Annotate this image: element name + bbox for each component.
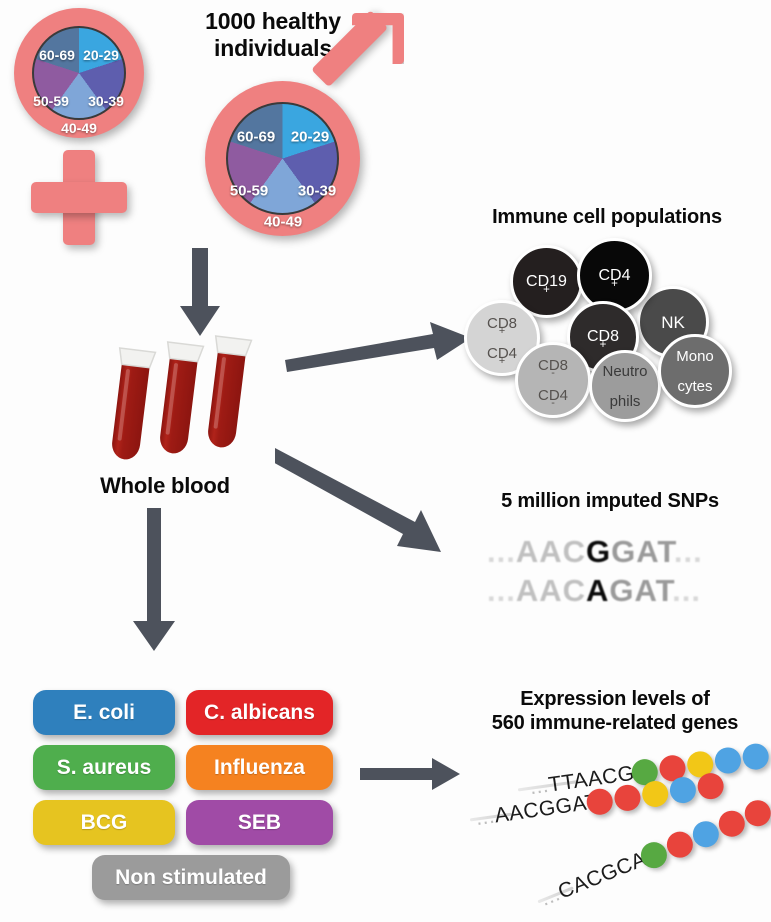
immune-cells-heading: Immune cell populations <box>452 206 762 230</box>
arrow-blood-to-immune-cells <box>285 318 475 378</box>
snp-row2-lead-dots: ... <box>487 573 516 608</box>
stimulus-seb[interactable]: SEB <box>186 800 333 845</box>
snp-row2-variant: A <box>586 573 609 608</box>
immune-cell-neutrophils: Neutro phils <box>589 350 661 422</box>
arrow-stimuli-to-expression <box>360 755 465 795</box>
stimulus-s-aureus[interactable]: S. aureus <box>33 745 175 790</box>
stimulus-c-albicans-label: C. albicans <box>204 701 315 725</box>
whole-blood-label: Whole blood <box>80 473 250 499</box>
stimulus-bcg[interactable]: BCG <box>33 800 175 845</box>
rna-bead-2-2 <box>613 783 642 812</box>
immune-cell-monocytes: Mono cytes <box>658 334 732 408</box>
female-symbol-stem-cross <box>31 182 127 213</box>
immune-cell-nk-label: NK <box>661 314 685 331</box>
age-pie-female <box>32 26 126 120</box>
immune-cell-cd4: CD4+ <box>577 238 652 313</box>
snp-row1-lead-dots: ... <box>487 534 516 569</box>
snp-row1-prefix: AAC <box>516 534 586 569</box>
immune-cell-cd8n-cd4n-label: CD8- CD4- <box>538 358 568 403</box>
stimulus-non-stimulated[interactable]: Non stimulated <box>92 855 290 900</box>
snp-sequence-row-2: ...AACAGAT... <box>487 573 701 609</box>
expression-heading-line1: Expression levels of <box>460 688 770 712</box>
rna-bead-3-5 <box>741 796 771 830</box>
arrow-cohort-to-blood <box>170 248 230 338</box>
immune-cell-neutrophils-label: Neutro phils <box>602 364 647 409</box>
stimulus-bcg-label: BCG <box>81 811 128 835</box>
age-pie-male <box>226 102 339 215</box>
immune-cell-cd8p-cd4p-label: CD8+ CD4+ <box>487 316 517 361</box>
rna-bead-2-5 <box>696 771 725 800</box>
snp-row1-variant: G <box>586 534 611 569</box>
rna-bead-2-3 <box>640 779 669 808</box>
snp-row2-suffix: GAT <box>609 573 672 608</box>
immune-cell-cd4-label: CD4+ <box>598 268 630 284</box>
snp-row2-trail-dots: ... <box>672 573 701 608</box>
snp-row1-suffix: GAT <box>611 534 674 569</box>
snp-sequence-row-1: ...AACGGAT... <box>487 534 703 570</box>
cohort-heading-line1: 1000 healthy <box>178 8 368 35</box>
rna-strand-2-sequence: ...AACGGAT <box>474 790 600 831</box>
stimulus-non-stimulated-label: Non stimulated <box>115 866 267 890</box>
stimulus-e-coli[interactable]: E. coli <box>33 690 175 735</box>
immune-cell-cluster: NK CD19+ CD4+ CD8+ CD8+ CD4+ CD8- CD4- N… <box>452 238 771 423</box>
rna-bead-2-4 <box>668 775 697 804</box>
immune-cell-cd8n-cd4n: CD8- CD4- <box>515 342 591 418</box>
snp-row1-trail-dots: ... <box>674 534 703 569</box>
immune-cell-cd8-label: CD8+ <box>587 329 619 345</box>
stimulus-influenza[interactable]: Influenza <box>186 745 333 790</box>
arrow-blood-to-snps <box>275 448 455 558</box>
snps-heading: 5 million imputed SNPs <box>460 490 760 514</box>
expression-heading-line2: 560 immune-related genes <box>460 712 770 736</box>
rna-bead-1-5 <box>741 742 770 771</box>
snp-row2-prefix: AAC <box>516 573 586 608</box>
expression-heading: Expression levels of 560 immune-related … <box>460 688 770 735</box>
immune-cell-monocytes-label: Mono cytes <box>676 349 714 394</box>
arrow-blood-to-stimuli <box>125 508 185 653</box>
stimulus-seb-label: SEB <box>238 811 281 835</box>
stimulus-c-albicans[interactable]: C. albicans <box>186 690 333 735</box>
stimulus-influenza-label: Influenza <box>214 756 305 780</box>
stimulus-e-coli-label: E. coli <box>73 701 135 725</box>
immune-cell-cd19-label: CD19+ <box>526 274 567 290</box>
stimulus-s-aureus-label: S. aureus <box>57 756 152 780</box>
